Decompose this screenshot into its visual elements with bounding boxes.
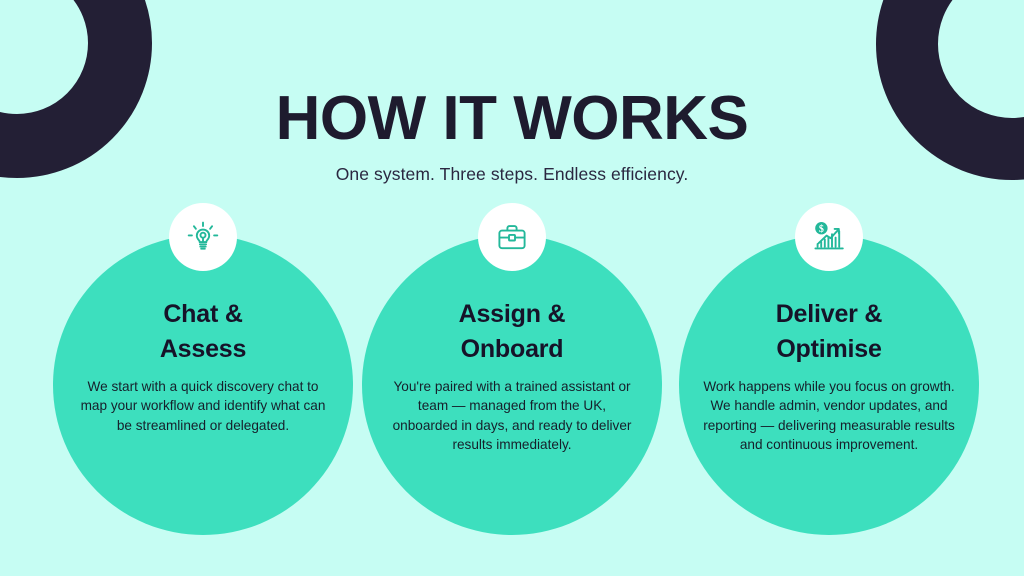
step-body: Chat & Assess We start with a quick disc… bbox=[53, 297, 353, 435]
header: HOW IT WORKS One system. Three steps. En… bbox=[0, 88, 1024, 185]
step-title: Chat & Assess bbox=[69, 297, 337, 366]
page-subtitle: One system. Three steps. Endless efficie… bbox=[0, 164, 1024, 185]
step-card-chat-assess[interactable]: Chat & Assess We start with a quick disc… bbox=[53, 235, 353, 535]
briefcase-icon bbox=[493, 218, 531, 256]
growth-chart-icon: $ bbox=[810, 218, 848, 256]
step-card-deliver-optimise[interactable]: $ Deliver & Optimise Work happens while … bbox=[679, 235, 979, 535]
step-icon-badge bbox=[478, 203, 546, 271]
svg-text:$: $ bbox=[819, 224, 824, 235]
step-title-line-1: Chat & bbox=[69, 297, 337, 332]
step-icon-badge bbox=[169, 203, 237, 271]
step-description: Work happens while you focus on growth. … bbox=[695, 377, 963, 454]
lightbulb-icon bbox=[184, 218, 222, 256]
step-body: Deliver & Optimise Work happens while yo… bbox=[679, 297, 979, 454]
step-card-assign-onboard[interactable]: Assign & Onboard You're paired with a tr… bbox=[362, 235, 662, 535]
steps-container: Chat & Assess We start with a quick disc… bbox=[0, 235, 1024, 545]
step-title-line-1: Deliver & bbox=[695, 297, 963, 332]
step-title-line-1: Assign & bbox=[378, 297, 646, 332]
step-title: Assign & Onboard bbox=[378, 297, 646, 366]
step-title-line-2: Optimise bbox=[695, 332, 963, 367]
step-description: We start with a quick discovery chat to … bbox=[69, 377, 337, 435]
step-title-line-2: Assess bbox=[69, 332, 337, 367]
page-title: HOW IT WORKS bbox=[0, 88, 1024, 150]
step-body: Assign & Onboard You're paired with a tr… bbox=[362, 297, 662, 454]
step-title: Deliver & Optimise bbox=[695, 297, 963, 366]
step-icon-badge: $ bbox=[795, 203, 863, 271]
slide-canvas: HOW IT WORKS One system. Three steps. En… bbox=[0, 0, 1024, 576]
step-title-line-2: Onboard bbox=[378, 332, 646, 367]
step-description: You're paired with a trained assistant o… bbox=[378, 377, 646, 454]
